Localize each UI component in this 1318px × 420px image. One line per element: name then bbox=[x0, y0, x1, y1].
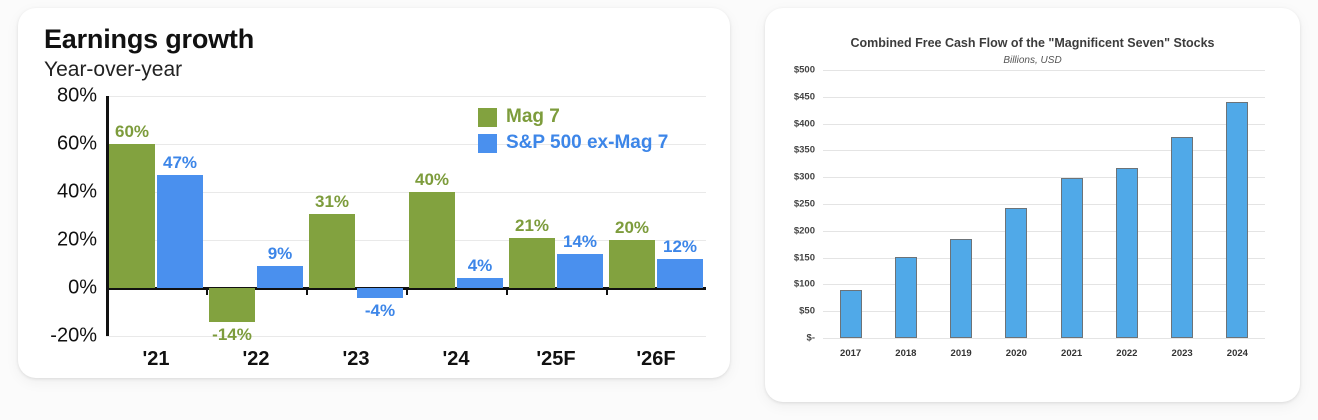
bar bbox=[657, 259, 703, 288]
chart-subtitle: Billions, USD bbox=[765, 55, 1300, 66]
y-axis-tick-label: $400 bbox=[794, 118, 815, 129]
legend-swatch-icon bbox=[478, 108, 497, 127]
gridline bbox=[823, 204, 1265, 205]
legend: Mag 7 S&P 500 ex-Mag 7 bbox=[478, 106, 668, 158]
page-title: Earnings growth bbox=[44, 24, 254, 55]
gridline bbox=[823, 284, 1265, 285]
earnings-growth-card: Earnings growth Year-over-year 80%60%40%… bbox=[18, 8, 730, 378]
bar-value-label: 14% bbox=[563, 232, 597, 252]
bar-value-label: -4% bbox=[365, 301, 395, 321]
bar bbox=[309, 214, 355, 288]
x-axis-tick-label: '23 bbox=[342, 348, 369, 371]
x-axis-tick-label: 2019 bbox=[951, 348, 972, 359]
x-axis-tick bbox=[206, 289, 208, 295]
y-axis-tick-label: $50 bbox=[799, 306, 815, 317]
x-axis-tick bbox=[506, 289, 508, 295]
bar bbox=[1061, 178, 1083, 338]
y-axis-tick-label: $100 bbox=[794, 279, 815, 290]
bar-value-label: 4% bbox=[468, 256, 493, 276]
gridline bbox=[823, 311, 1265, 312]
bar-value-label: 60% bbox=[115, 122, 149, 142]
page-subtitle: Year-over-year bbox=[44, 58, 182, 82]
y-axis-tick-label: $450 bbox=[794, 91, 815, 102]
legend-label-sp500: S&P 500 ex-Mag 7 bbox=[506, 132, 668, 154]
y-axis-tick-label: 0% bbox=[68, 277, 97, 300]
bar bbox=[1116, 168, 1138, 338]
gridline bbox=[106, 96, 706, 97]
bar bbox=[357, 288, 403, 298]
chart-title: Combined Free Cash Flow of the "Magnific… bbox=[765, 36, 1300, 50]
x-axis-tick-label: '21 bbox=[142, 348, 169, 371]
y-axis-tick-label: $300 bbox=[794, 172, 815, 183]
bar bbox=[109, 144, 155, 288]
bar-value-label: 40% bbox=[415, 170, 449, 190]
x-axis-tick-label: 2024 bbox=[1227, 348, 1248, 359]
bar-value-label: 21% bbox=[515, 216, 549, 236]
x-axis-tick-label: '25F bbox=[536, 348, 575, 371]
bar bbox=[457, 278, 503, 288]
bar bbox=[950, 239, 972, 338]
bar bbox=[1226, 102, 1248, 338]
bar bbox=[557, 254, 603, 288]
y-axis-tick-label: $500 bbox=[794, 65, 815, 76]
bar-value-label: 31% bbox=[315, 192, 349, 212]
gridline bbox=[823, 338, 1265, 339]
legend-item-sp500: S&P 500 ex-Mag 7 bbox=[478, 132, 668, 154]
y-axis-tick-label: $350 bbox=[794, 145, 815, 156]
x-axis-tick-label: '22 bbox=[242, 348, 269, 371]
gridline bbox=[823, 258, 1265, 259]
bar bbox=[1171, 137, 1193, 338]
y-axis-tick-label: 60% bbox=[57, 133, 97, 156]
x-axis-tick-label: '26F bbox=[636, 348, 675, 371]
free-cash-flow-plot: $500$450$400$350$300$250$200$150$100$50$… bbox=[823, 70, 1265, 338]
x-axis-tick-label: 2023 bbox=[1172, 348, 1193, 359]
y-axis-tick-label: 20% bbox=[57, 229, 97, 252]
screenshot-root: Earnings growth Year-over-year 80%60%40%… bbox=[0, 0, 1318, 420]
bar bbox=[209, 288, 255, 322]
bar-value-label: 9% bbox=[268, 244, 293, 264]
x-axis-tick-label: '24 bbox=[442, 348, 469, 371]
y-axis-tick-label: 40% bbox=[57, 181, 97, 204]
y-axis-tick-label: $150 bbox=[794, 252, 815, 263]
bar bbox=[609, 240, 655, 288]
y-axis-tick-label: $- bbox=[807, 333, 815, 344]
legend-label-mag7: Mag 7 bbox=[506, 106, 560, 128]
y-axis-tick-label: 80% bbox=[57, 85, 97, 108]
free-cash-flow-card: Combined Free Cash Flow of the "Magnific… bbox=[765, 8, 1300, 402]
y-axis-tick-label: -20% bbox=[50, 325, 97, 348]
bar bbox=[895, 257, 917, 338]
y-axis-tick-label: $200 bbox=[794, 225, 815, 236]
bar bbox=[1005, 208, 1027, 338]
bar bbox=[409, 192, 455, 288]
x-axis-tick-label: 2021 bbox=[1061, 348, 1082, 359]
x-axis-tick bbox=[306, 289, 308, 295]
bar-value-label: 20% bbox=[615, 218, 649, 238]
gridline bbox=[823, 97, 1265, 98]
gridline bbox=[823, 177, 1265, 178]
x-axis-tick-label: 2017 bbox=[840, 348, 861, 359]
y-axis-tick-label: $250 bbox=[794, 199, 815, 210]
x-axis-tick bbox=[406, 289, 408, 295]
bar-value-label: 12% bbox=[663, 237, 697, 257]
bar bbox=[840, 290, 862, 338]
gridline bbox=[823, 150, 1265, 151]
gridline bbox=[823, 231, 1265, 232]
bar-value-label: 47% bbox=[163, 153, 197, 173]
bar-value-label: -14% bbox=[212, 325, 252, 345]
legend-swatch-icon bbox=[478, 134, 497, 153]
x-axis-tick-label: 2022 bbox=[1116, 348, 1137, 359]
bar bbox=[257, 266, 303, 288]
x-axis-tick-label: 2018 bbox=[895, 348, 916, 359]
gridline bbox=[823, 70, 1265, 71]
x-axis-tick bbox=[606, 289, 608, 295]
x-axis-tick-label: 2020 bbox=[1006, 348, 1027, 359]
gridline bbox=[823, 124, 1265, 125]
bar bbox=[509, 238, 555, 288]
legend-item-mag7: Mag 7 bbox=[478, 106, 668, 128]
bar bbox=[157, 175, 203, 288]
gridline bbox=[106, 336, 706, 337]
